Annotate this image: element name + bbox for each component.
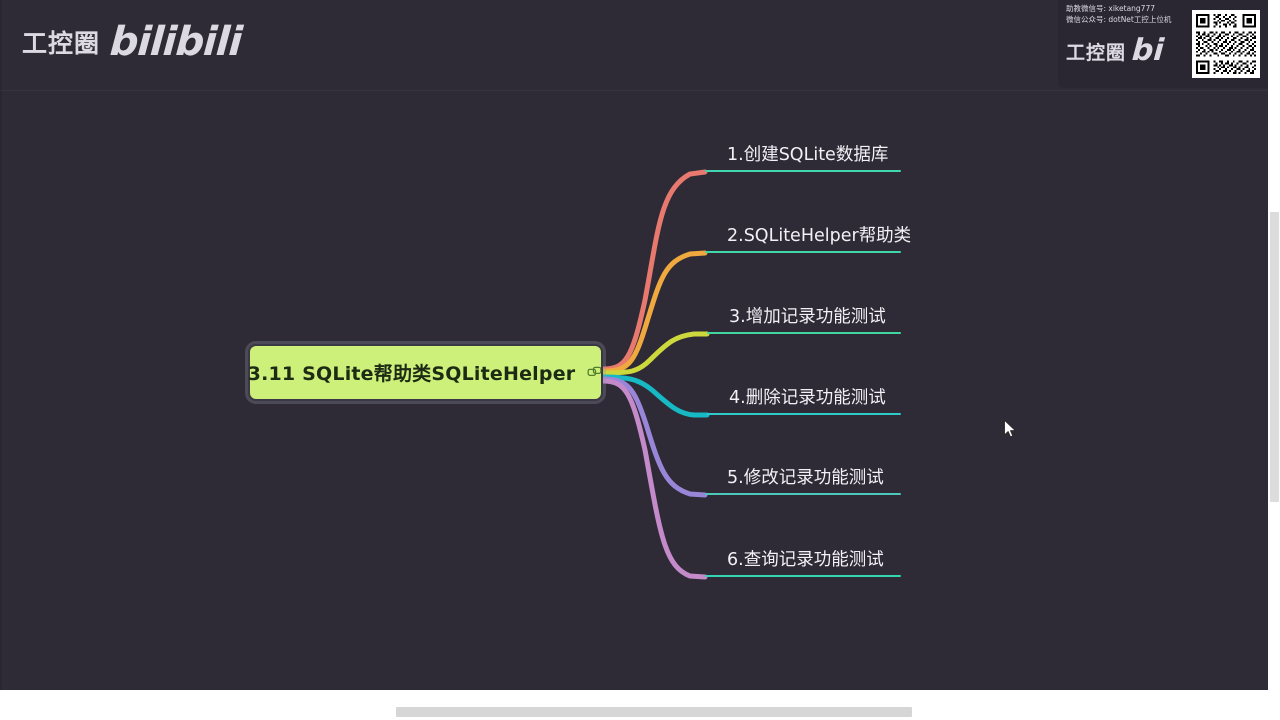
- horizontal-scrollbar-track[interactable]: [0, 704, 1268, 720]
- connector-branch-1: [603, 172, 705, 369]
- screen-root: 工控圈 bilibili 3.11 SQLite帮助类SQLiteHelper: [0, 0, 1280, 720]
- mindmap-connectors: [0, 0, 1268, 690]
- branch-underline-3: [707, 332, 901, 334]
- promo-line-2: 微信公众号: dotNet工控上位机: [1066, 14, 1191, 25]
- branch-label-6: 6.查询记录功能测试: [727, 546, 884, 571]
- vertical-scrollbar-thumb[interactable]: [1270, 212, 1279, 502]
- branch-underline-4: [707, 413, 901, 415]
- qr-code-icon: [1192, 10, 1260, 78]
- branch-underline-5: [705, 493, 901, 495]
- promo-brand-cn: 工控圈: [1066, 38, 1126, 65]
- branch-label-4: 4.删除记录功能测试: [729, 384, 886, 409]
- mindmap-branch-6[interactable]: 6.查询记录功能测试: [705, 531, 901, 577]
- link-icon[interactable]: [586, 365, 603, 381]
- branch-label-2: 2.SQLiteHelper帮助类: [727, 222, 911, 247]
- mindmap-branch-3[interactable]: 3.增加记录功能测试: [707, 288, 901, 334]
- connector-branch-6: [603, 381, 705, 577]
- branch-underline-2: [705, 251, 901, 253]
- promo-line-1: 助教微信号: xiketang777: [1066, 3, 1191, 14]
- promo-watermark: 工控圈 bi: [1066, 36, 1164, 66]
- mindmap-branch-2[interactable]: 2.SQLiteHelper帮助类: [705, 207, 901, 253]
- mindmap-branch-5[interactable]: 5.修改记录功能测试: [705, 449, 901, 495]
- mindmap-canvas[interactable]: 工控圈 bilibili 3.11 SQLite帮助类SQLiteHelper: [0, 0, 1268, 690]
- root-node-label: 3.11 SQLite帮助类SQLiteHelper: [248, 359, 576, 386]
- mindmap-branch-4[interactable]: 4.删除记录功能测试: [707, 369, 901, 415]
- branch-label-5: 5.修改记录功能测试: [727, 464, 884, 489]
- scrollbar-corner: [1268, 704, 1280, 720]
- branch-underline-1: [705, 170, 901, 172]
- branch-underline-6: [705, 575, 901, 577]
- promo-text-block: 助教微信号: xiketang777 微信公众号: dotNet工控上位机: [1066, 3, 1191, 25]
- connector-branch-5: [603, 379, 705, 495]
- horizontal-scrollbar-thumb[interactable]: [396, 707, 912, 717]
- branch-label-3: 3.增加记录功能测试: [729, 303, 886, 328]
- mindmap-branch-1[interactable]: 1.创建SQLite数据库: [705, 126, 901, 172]
- mouse-cursor: [1003, 419, 1017, 439]
- vertical-scrollbar-track[interactable]: [1268, 0, 1280, 704]
- promo-overlay: 助教微信号: xiketang777 微信公众号: dotNet工控上位机 工控…: [1058, 0, 1268, 88]
- mindmap-root-node[interactable]: 3.11 SQLite帮助类SQLiteHelper: [248, 344, 603, 401]
- branch-label-1: 1.创建SQLite数据库: [727, 141, 888, 166]
- promo-bilibili-logo: bi: [1131, 36, 1165, 66]
